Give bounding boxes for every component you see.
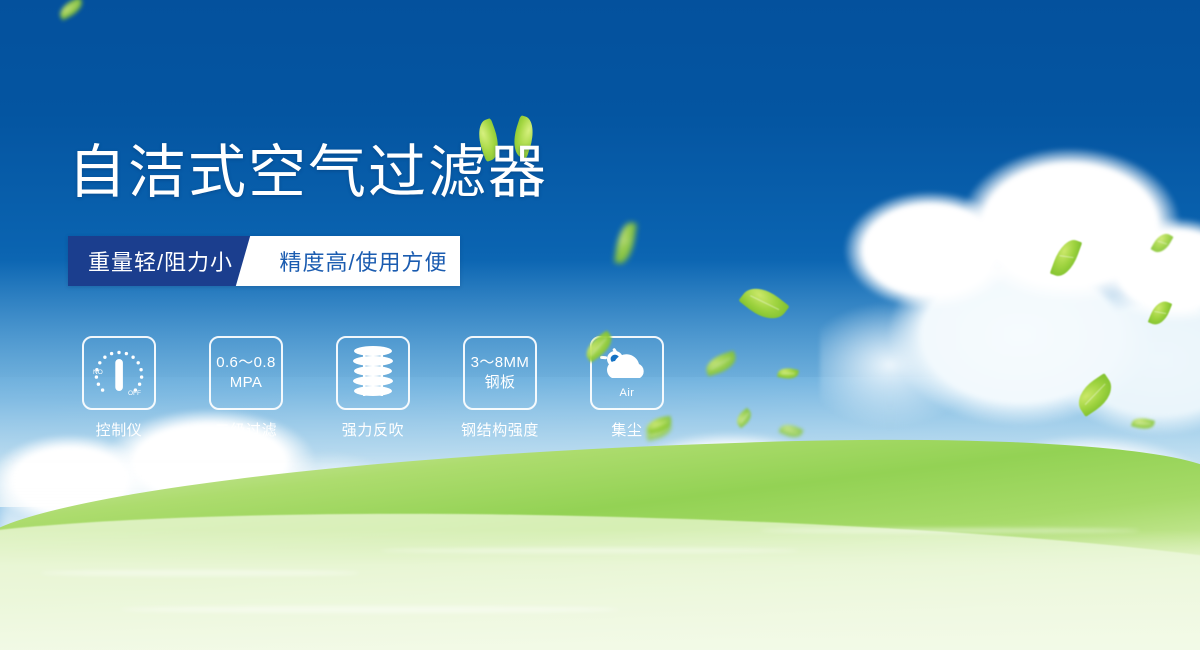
feature-label: 集尘: [611, 419, 642, 440]
subtitle-bar: 重量轻/阻力小 精度高/使用方便: [68, 236, 460, 286]
pressure-text-icon: 0.6～0.8 MPA: [209, 336, 283, 410]
feature-item-controller[interactable]: NO OFF 控制仪: [80, 336, 158, 440]
feature-list: NO OFF 控制仪 0.6～0.8 MPA 二级过滤: [80, 336, 666, 440]
feature-label: 强力反吹: [342, 419, 404, 440]
subtitle-left-text: 重量轻/阻力小: [68, 236, 253, 286]
cumulus-cloud-right: [820, 130, 1200, 460]
feature-item-backblow[interactable]: 强力反吹: [334, 336, 412, 440]
gauge-icon-svg: NO OFF: [88, 342, 150, 404]
feature-label: 二级过滤: [215, 419, 277, 440]
cloud-air-label: Air: [620, 387, 635, 399]
page-title: 自洁式空气过滤器: [68, 140, 548, 206]
feature-item-pressure[interactable]: 0.6～0.8 MPA 二级过滤: [207, 336, 285, 440]
subtitle-right-text: 精度高/使用方便: [253, 236, 460, 286]
gauge-icon: NO OFF: [82, 336, 156, 410]
steel-value-line1: 3～8MM: [471, 353, 530, 373]
cloud-air-icon-svg: [598, 346, 656, 392]
feature-item-steel[interactable]: 3～8MM 钢板 钢结构强度: [461, 336, 539, 440]
steel-value-line2: 钢板: [485, 373, 516, 393]
product-hero-banner: 自洁式空气过滤器 重量轻/阻力小 精度高/使用方便: [0, 0, 1200, 650]
filter-cartridge-icon: [336, 336, 410, 410]
grass-field: [0, 420, 1200, 650]
pressure-value-line2: MPA: [230, 373, 263, 393]
filter-cartridge-icon-svg: [346, 344, 400, 402]
gauge-off-label: OFF: [128, 390, 141, 397]
feature-label: 控制仪: [96, 419, 143, 440]
pressure-value-line1: 0.6～0.8: [216, 353, 276, 373]
feature-label: 钢结构强度: [461, 419, 539, 440]
steel-plate-text-icon: 3～8MM 钢板: [463, 336, 537, 410]
gauge-on-label: NO: [93, 369, 103, 376]
